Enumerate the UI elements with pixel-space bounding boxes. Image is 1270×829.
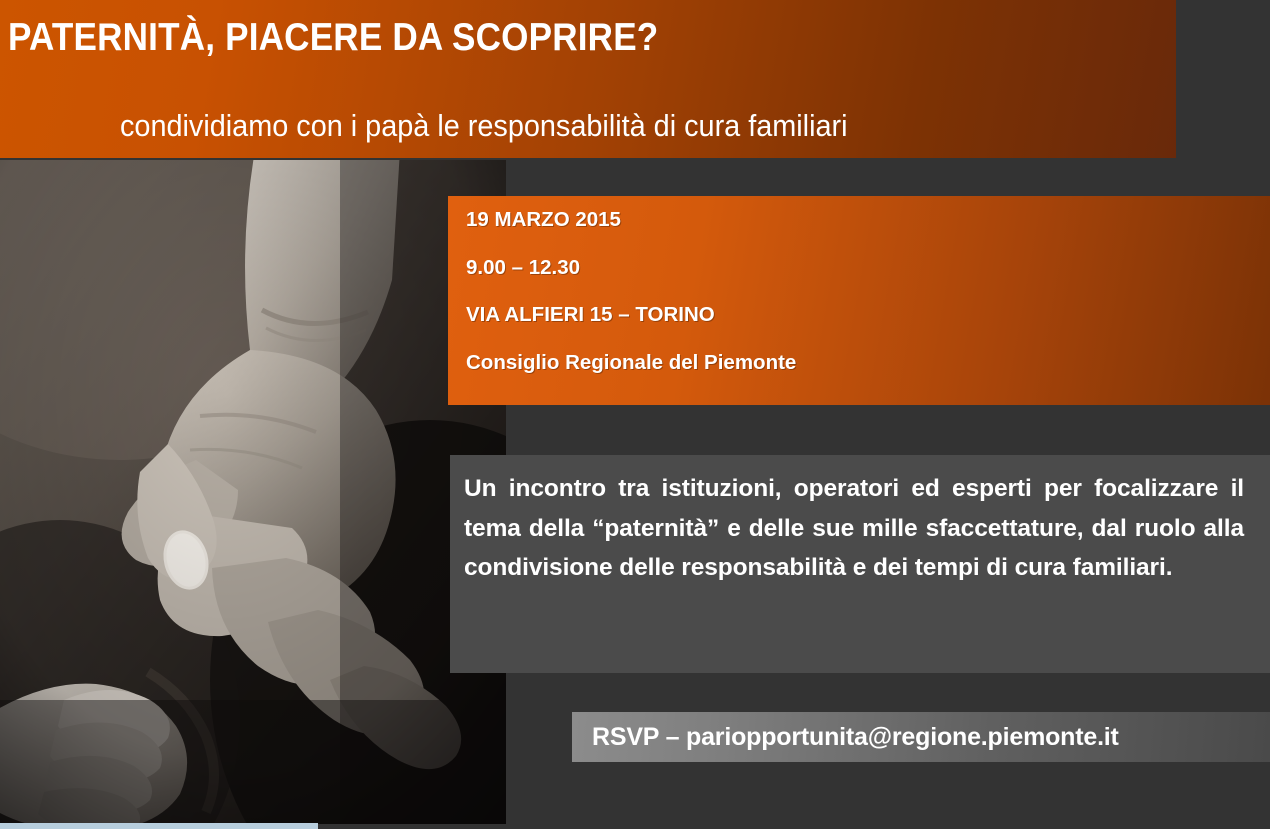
rsvp-email-text[interactable]: RSVP – pariopportunita@regione.piemonte.… (592, 723, 1119, 752)
bottom-accent-strip (0, 823, 318, 829)
header-band: PATERNITÀ, PIACERE DA SCOPRIRE? condivid… (0, 0, 1176, 158)
hands-photo-image (0, 160, 506, 824)
rsvp-bar[interactable]: RSVP – pariopportunita@regione.piemonte.… (572, 712, 1270, 762)
page-subtitle: condividiamo con i papà le responsabilit… (120, 110, 848, 143)
page-title: PATERNITÀ, PIACERE DA SCOPRIRE? (8, 18, 658, 59)
poster-canvas: PATERNITÀ, PIACERE DA SCOPRIRE? condivid… (0, 0, 1270, 829)
event-date: 19 MARZO 2015 (466, 210, 1270, 231)
event-info-box: 19 MARZO 2015 9.00 – 12.30 VIA ALFIERI 1… (448, 196, 1270, 405)
event-time: 9.00 – 12.30 (466, 258, 1270, 279)
description-box: Un incontro tra istituzioni, operatori e… (450, 455, 1270, 673)
description-text: Un incontro tra istituzioni, operatori e… (464, 469, 1244, 588)
event-venue: Consiglio Regionale del Piemonte (466, 353, 1270, 374)
hands-photo (0, 160, 506, 824)
event-address: VIA ALFIERI 15 – TORINO (466, 305, 1270, 326)
